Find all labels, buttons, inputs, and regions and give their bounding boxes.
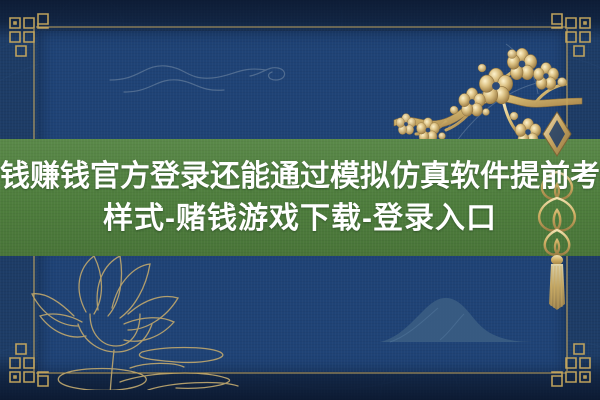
headline-text-block: 赌钱赚钱官方登录还能通过模拟仿真软件提前考据 样式-赌钱游戏下载-登录入口 <box>0 139 600 256</box>
promo-banner: 赌钱赚钱官方登录还能通过模拟仿真软件提前考据 样式-赌钱游戏下载-登录入口 <box>0 0 600 400</box>
headline-line-1: 赌钱赚钱官方登录还能通过模拟仿真软件提前考据 <box>0 158 600 196</box>
headline-line-2: 样式-赌钱游戏下载-登录入口 <box>103 200 497 238</box>
